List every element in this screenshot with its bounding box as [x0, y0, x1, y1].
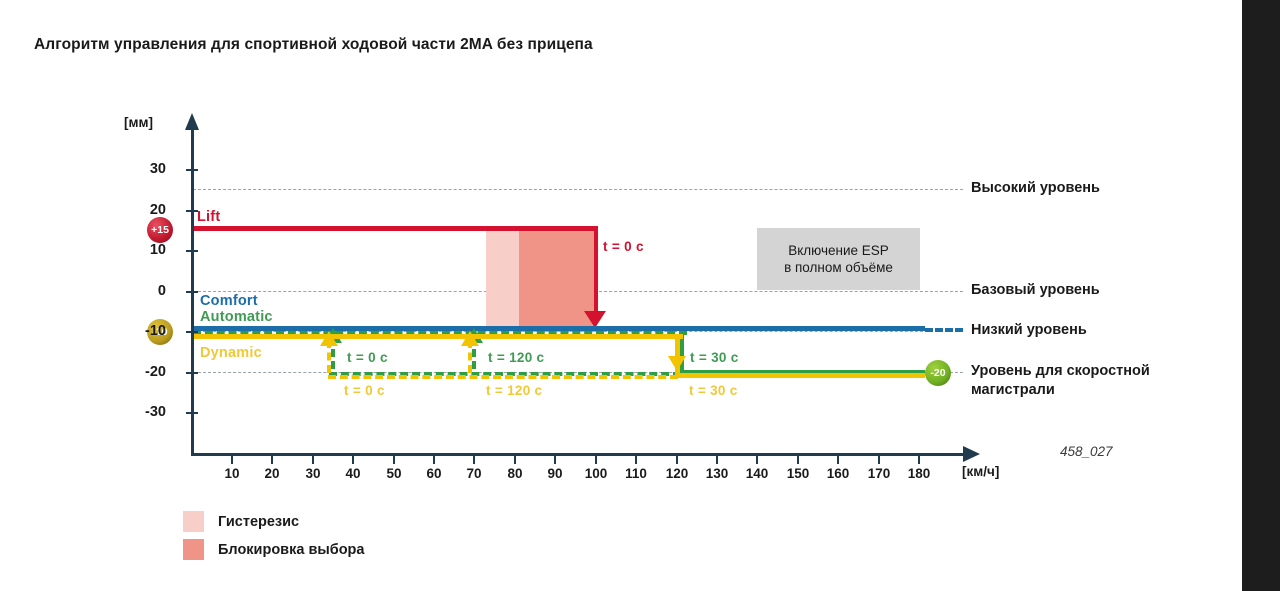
x-label-80: 80 — [495, 466, 535, 481]
reference-line-high — [193, 189, 963, 190]
x-label-90: 90 — [535, 466, 575, 481]
timing-label-auto-70: t = 120 с — [488, 350, 544, 365]
x-tick-30 — [312, 456, 314, 464]
x-axis — [191, 453, 966, 456]
mode-label-automatic: Automatic — [200, 309, 273, 325]
y-label-10: 10 — [126, 242, 166, 258]
y-axis-unit: [мм] — [124, 115, 153, 130]
badge-lift-value: +15 — [147, 217, 173, 243]
y-label-20: 20 — [126, 202, 166, 218]
timing-label-auto-35: t = 0 с — [347, 350, 388, 365]
badge-dynamic-value: -20 — [925, 360, 951, 386]
slide-root: Алгоритм управления для спортивной ходов… — [0, 0, 1280, 591]
x-tick-10 — [231, 456, 233, 464]
x-tick-130 — [716, 456, 718, 464]
y-tick-0 — [186, 291, 198, 293]
x-tick-90 — [554, 456, 556, 464]
figure-number: 458_027 — [1060, 444, 1113, 459]
comfort-curve-tail — [925, 328, 963, 332]
x-label-40: 40 — [333, 466, 373, 481]
y-tick-30 — [186, 169, 198, 171]
dynamic-drop-120-arrowhead — [668, 356, 686, 371]
y-tick-10 — [186, 250, 198, 252]
legend-label-hysteresis: Гистерезис — [218, 514, 299, 530]
level-label-base: Базовый уровень — [971, 281, 1241, 300]
esp-note-line1: Включение ESP — [788, 243, 889, 258]
lift-curve-drop — [594, 226, 599, 316]
timing-label-lift-drop: t = 0 с — [603, 239, 644, 254]
x-label-140: 140 — [737, 466, 777, 481]
legend-swatch-hysteresis — [183, 511, 204, 532]
mode-label-dynamic: Dynamic — [200, 345, 262, 361]
x-tick-180 — [918, 456, 920, 464]
legend-label-selection-block: Блокировка выбора — [218, 542, 364, 558]
x-tick-60 — [433, 456, 435, 464]
dynamic-raise-70-arrowhead — [461, 331, 479, 346]
x-tick-160 — [837, 456, 839, 464]
y-label-m30: -30 — [126, 404, 166, 420]
x-tick-80 — [514, 456, 516, 464]
y-tick-m20 — [186, 372, 198, 374]
chart-canvas: Включение ESP в полном объёме +15 -10 — [0, 0, 1280, 591]
x-tick-120 — [676, 456, 678, 464]
x-tick-170 — [878, 456, 880, 464]
timing-label-dyn-120: t = 30 с — [689, 383, 738, 398]
y-tick-20 — [186, 210, 198, 212]
x-label-170: 170 — [859, 466, 899, 481]
x-label-70: 70 — [454, 466, 494, 481]
level-label-high: Высокий уровень — [971, 179, 1241, 198]
x-label-60: 60 — [414, 466, 454, 481]
x-label-150: 150 — [778, 466, 818, 481]
esp-note-line2: в полном объёме — [784, 260, 893, 275]
x-tick-20 — [271, 456, 273, 464]
x-label-10: 10 — [212, 466, 252, 481]
y-label-30: 30 — [126, 161, 166, 177]
y-label-m10: -10 — [126, 323, 166, 339]
x-axis-unit: [км/ч] — [962, 464, 999, 479]
x-tick-110 — [635, 456, 637, 464]
y-tick-m10 — [186, 331, 198, 333]
x-tick-150 — [797, 456, 799, 464]
comfort-curve — [193, 326, 925, 331]
dynamic-curve-upper — [193, 334, 683, 339]
dynamic-curve-lower-dashed — [328, 375, 678, 379]
x-label-160: 160 — [818, 466, 858, 481]
y-axis-arrowhead — [185, 113, 199, 130]
x-label-50: 50 — [374, 466, 414, 481]
x-label-130: 130 — [697, 466, 737, 481]
x-tick-40 — [352, 456, 354, 464]
legend-item-hysteresis: Гистерезис — [183, 511, 299, 532]
mode-label-comfort: Comfort — [200, 293, 258, 309]
x-tick-100 — [595, 456, 597, 464]
x-label-120: 120 — [657, 466, 697, 481]
timing-label-dyn-70: t = 120 с — [486, 383, 542, 398]
y-tick-m30 — [186, 412, 198, 414]
x-label-110: 110 — [616, 466, 656, 481]
x-tick-140 — [756, 456, 758, 464]
x-tick-70 — [473, 456, 475, 464]
legend-item-selection-block: Блокировка выбора — [183, 539, 364, 560]
x-label-100: 100 — [576, 466, 616, 481]
level-label-low: Низкий уровень — [971, 321, 1241, 340]
y-label-m20: -20 — [126, 364, 166, 380]
hysteresis-band — [486, 228, 519, 332]
x-axis-arrowhead — [963, 446, 980, 462]
dynamic-curve-lower — [675, 373, 925, 378]
legend-swatch-selection-block — [183, 539, 204, 560]
level-label-motorway: Уровень для скоростной магистрали — [971, 362, 1166, 400]
esp-note-box: Включение ESP в полном объёме — [757, 228, 920, 290]
dynamic-raise-35-arrowhead — [320, 331, 338, 346]
x-label-20: 20 — [252, 466, 292, 481]
x-label-30: 30 — [293, 466, 333, 481]
y-label-0: 0 — [126, 283, 166, 299]
timing-label-dyn-35: t = 0 с — [344, 383, 385, 398]
x-label-180: 180 — [899, 466, 939, 481]
mode-label-lift: Lift — [197, 209, 220, 225]
lift-curve-horizontal — [193, 226, 598, 231]
x-tick-50 — [393, 456, 395, 464]
timing-label-auto-120: t = 30 с — [690, 350, 739, 365]
